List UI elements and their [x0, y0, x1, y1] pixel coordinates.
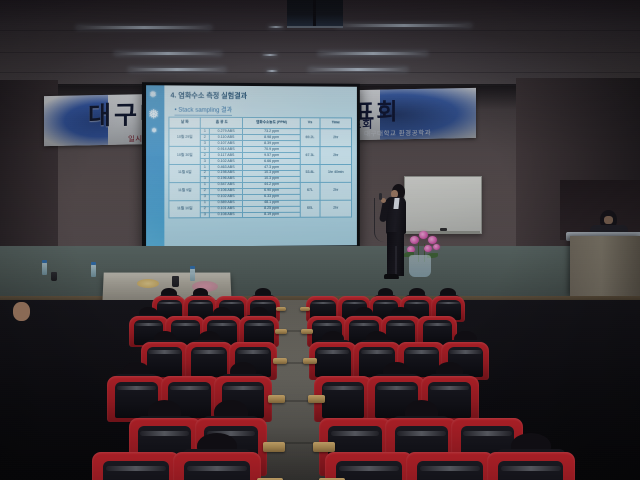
seat-highlight — [317, 350, 350, 353]
cell-time: 2hr — [320, 182, 352, 200]
seat-highlight — [377, 386, 416, 390]
col-ppm: 염화수소농도 (PPM) — [243, 117, 300, 128]
ceiling-light-strip — [266, 70, 278, 72]
col-absorbance: 흡 광 도 — [201, 117, 243, 128]
seat-armrest — [263, 442, 285, 451]
cell-vs: 60L — [300, 200, 320, 218]
seat-highlight — [172, 323, 199, 326]
seat-highlight — [449, 350, 482, 353]
ceiling-seam — [0, 72, 640, 73]
seat-highlight — [189, 302, 212, 304]
cell-date: 11월 10일 — [169, 200, 201, 218]
ceiling-light-strip — [114, 52, 222, 55]
water-bottle — [42, 262, 47, 275]
seat-highlight — [251, 302, 274, 304]
seat-armrest — [268, 395, 285, 402]
presenter-leg-split — [395, 246, 397, 276]
seat-highlight — [397, 431, 446, 436]
orchid-flower — [410, 236, 419, 244]
cell-date: 10월 29일 — [169, 128, 201, 146]
seat-highlight — [148, 350, 181, 353]
auditorium-photo: 대구대 발표회 대구 발표회 일시 : 2009. 11. 20(금) 대구대학… — [0, 0, 640, 480]
ceiling-seam — [0, 30, 640, 31]
auditorium-seat[interactable] — [487, 452, 575, 480]
seat-highlight — [117, 386, 156, 390]
seat-highlight — [424, 323, 451, 326]
whiteboard — [404, 176, 482, 234]
cell-vs: 53.8L — [300, 164, 320, 182]
seat-armrest — [275, 329, 287, 334]
seat-highlight — [343, 302, 366, 304]
microphone-icon — [379, 193, 382, 200]
bottle-cap — [42, 260, 47, 263]
seat-highlight — [501, 466, 561, 472]
seat-highlight — [237, 350, 270, 353]
projected-slide: ❅ ❅ ❅ 4. 염화수소 측정 실험결과 • Stack sampling 결… — [146, 85, 357, 247]
auditorium-seat[interactable] — [325, 452, 413, 480]
ceiling-light-strip — [262, 54, 278, 56]
orchid-flower — [428, 236, 437, 244]
cell-date: 10월 30일 — [169, 146, 201, 164]
table-header-row: 날 짜 흡 광 도 염화수소농도 (PPM) Vs Time — [169, 117, 352, 129]
slide-data-table: 날 짜 흡 광 도 염화수소농도 (PPM) Vs Time 10월 29일10… — [168, 117, 352, 219]
seat-highlight — [361, 350, 394, 353]
ceiling-light-strip — [128, 68, 226, 71]
cell-time: 2hr — [320, 129, 352, 147]
seat-highlight — [420, 466, 480, 472]
seat-highlight — [209, 323, 236, 326]
cell-time: 1hr 40min — [320, 164, 352, 182]
seat-armrest — [313, 442, 335, 451]
whiteboard-tray — [404, 231, 480, 234]
col-date: 날 짜 — [169, 117, 201, 128]
water-bottle — [91, 264, 96, 277]
orchid-flower — [424, 245, 432, 252]
seat-highlight — [187, 466, 247, 472]
ceiling-light-strip — [268, 26, 284, 28]
dark-cup — [51, 272, 57, 281]
snack-plate — [137, 279, 159, 288]
seat-highlight — [106, 466, 166, 472]
seat-highlight — [135, 323, 162, 326]
seat-armrest — [303, 358, 317, 364]
seat-highlight — [405, 350, 438, 353]
projection-screen: ❅ ❅ ❅ 4. 염화수소 측정 실험결과 • Stack sampling 결… — [142, 82, 360, 250]
seat-highlight — [311, 302, 334, 304]
seat-highlight — [220, 302, 243, 304]
dark-cup — [172, 276, 179, 287]
cell-absorbance: 0.108 ABS — [209, 212, 243, 218]
snowflake-icon: ❅ — [149, 90, 157, 99]
snowflake-icon: ❅ — [151, 128, 157, 135]
audience-member-face — [13, 302, 30, 321]
cell-time: 2hr — [320, 200, 352, 218]
seat-highlight — [405, 302, 428, 304]
seat-highlight — [140, 431, 189, 436]
auditorium-seat[interactable] — [92, 452, 180, 480]
ceiling-light-strip — [336, 24, 472, 27]
cell-sample-no: 3 — [201, 212, 209, 218]
seat-armrest — [301, 329, 313, 334]
snowflake-icon: ❅ — [148, 107, 159, 120]
seat-highlight — [350, 323, 377, 326]
seat-armrest — [300, 307, 310, 311]
cell-time: 2hr — [320, 147, 352, 165]
seat-highlight — [158, 302, 181, 304]
chairperson-face — [604, 216, 613, 224]
cell-date: 11월 6일 — [169, 164, 201, 182]
slide-title: 4. 염화수소 측정 실험결과 — [170, 90, 247, 101]
cell-vs: 67.3L — [300, 147, 320, 165]
ceiling-light-strip — [308, 68, 408, 71]
seat-highlight — [223, 386, 262, 390]
ceiling-light-strip — [76, 26, 212, 29]
seat-armrest — [276, 307, 286, 311]
seat-highlight — [193, 350, 226, 353]
seat-highlight — [170, 386, 209, 390]
seat-highlight — [331, 431, 380, 436]
col-vs: Vs — [300, 118, 320, 129]
seat-highlight — [463, 431, 512, 436]
stage-floor — [0, 246, 640, 300]
auditorium-seat[interactable] — [406, 452, 494, 480]
seat-highlight — [430, 386, 469, 390]
seat-highlight — [245, 323, 272, 326]
water-bottle — [190, 268, 195, 281]
flower-vase — [409, 255, 431, 277]
presenter-shoe — [384, 274, 399, 279]
seat-armrest — [273, 358, 287, 364]
auditorium-seat[interactable] — [173, 452, 261, 480]
podium — [570, 236, 640, 296]
orchid-flower — [419, 231, 428, 239]
cell-ppm: 8.19 ppm — [243, 212, 300, 218]
seat-highlight — [374, 302, 397, 304]
table-body: 10월 29일10.279 ABS73.2 ppm69.2L2hr20.110 … — [169, 128, 352, 218]
cell-vs: 69.2L — [300, 129, 320, 147]
seat-highlight — [313, 323, 340, 326]
bottle-cap — [91, 262, 96, 265]
cell-vs: 67L — [300, 182, 320, 200]
slide-bullet: • Stack sampling 결과 — [175, 105, 233, 116]
seat-highlight — [339, 466, 399, 472]
cell-date: 11월 9일 — [169, 182, 201, 200]
table-head: 날 짜 흡 광 도 염화수소농도 (PPM) Vs Time — [169, 117, 352, 129]
orchid-flower — [433, 244, 440, 250]
seat-highlight — [387, 323, 414, 326]
ceiling-projector-icon — [287, 0, 343, 28]
bottle-cap — [190, 266, 195, 269]
seat-armrest — [308, 395, 325, 402]
ceiling-light-strip — [318, 52, 428, 55]
seat-highlight — [437, 302, 460, 304]
marker-icon — [440, 228, 447, 231]
seat-highlight — [323, 386, 362, 390]
col-time: Time — [320, 118, 352, 129]
